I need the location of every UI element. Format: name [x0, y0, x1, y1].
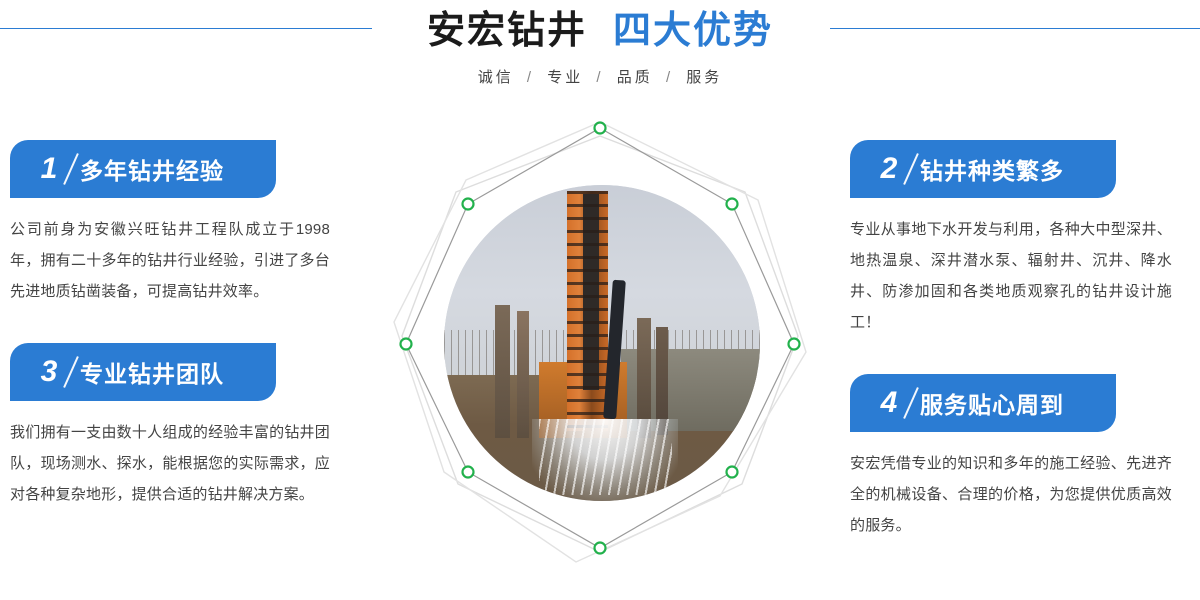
- feature-badge-4[interactable]: 4 服务贴心周到: [850, 374, 1116, 432]
- feature-body-1: 公司前身为安徽兴旺钻井工程队成立于1998年，拥有二十多年的钻井行业经验，引进了…: [10, 214, 330, 307]
- page-title: 安宏钻井四大优势: [0, 8, 1200, 54]
- feature-badge-2[interactable]: 2 钻井种类繁多: [850, 140, 1116, 198]
- feature-number-3: 3: [28, 351, 70, 393]
- polygon-node-left: [401, 339, 412, 350]
- feature-number-3-value: 3: [41, 355, 58, 388]
- feature-number-1-value: 1: [41, 152, 58, 185]
- feature-number-2-value: 2: [881, 152, 898, 185]
- feature-title-3: 专业钻井团队: [80, 355, 224, 389]
- feature-item-4: 4 服务贴心周到 安宏凭借专业的知识和多年的施工经验、先进齐全的机械设备、合理的…: [850, 374, 1180, 541]
- subtitle-item-3: 品质: [617, 69, 653, 86]
- photo-rig-mast-rungs: [567, 191, 608, 431]
- slash-icon: [63, 356, 79, 388]
- subtitle-item-2: 专业: [547, 69, 583, 86]
- feature-item-1: 1 多年钻井经验 公司前身为安徽兴旺钻井工程队成立于1998年，拥有二十多年的钻…: [10, 140, 340, 307]
- drilling-rig-photo: [444, 185, 760, 501]
- feature-number-4-value: 4: [881, 386, 898, 419]
- feature-body-4: 安宏凭借专业的知识和多年的施工经验、先进齐全的机械设备、合理的价格，为您提供优质…: [850, 448, 1172, 541]
- center-graphic: [370, 100, 830, 600]
- slash-icon: [903, 387, 919, 419]
- feature-body-3: 我们拥有一支由数十人组成的经验丰富的钻井团队，现场测水、探水，能根据您的实际需求…: [10, 417, 330, 510]
- page-title-highlight: 四大优势: [613, 10, 773, 52]
- subtitle-separator-3: /: [666, 69, 673, 86]
- feature-column-right: 2 钻井种类繁多 专业从事地下水开发与利用，各种大中型深井、地热温泉、深井潜水泵…: [850, 140, 1180, 559]
- subtitle-separator-2: /: [596, 69, 603, 86]
- feature-item-3: 3 专业钻井团队 我们拥有一支由数十人组成的经验丰富的钻井团队，现场测水、探水，…: [10, 343, 340, 510]
- photo-rig-leg-left: [495, 305, 511, 438]
- subtitle-item-1: 诚信: [478, 69, 514, 86]
- banner-header: 安宏钻井四大优势 诚信 / 专业 / 品质 / 服务: [0, 0, 1200, 110]
- photo-water-jets: [539, 419, 672, 495]
- feature-number-2: 2: [868, 148, 910, 190]
- feature-badge-3[interactable]: 3 专业钻井团队: [10, 343, 276, 401]
- promo-banner: 安宏钻井四大优势 诚信 / 专业 / 品质 / 服务 1 多年钻井经验 公司前身…: [0, 0, 1200, 600]
- feature-column-left: 1 多年钻井经验 公司前身为安徽兴旺钻井工程队成立于1998年，拥有二十多年的钻…: [10, 140, 340, 528]
- subtitle-separator-1: /: [527, 69, 534, 86]
- subtitle-item-4: 服务: [686, 69, 722, 86]
- slash-icon: [63, 153, 79, 185]
- feature-title-4: 服务贴心周到: [920, 386, 1064, 420]
- slash-icon: [903, 153, 919, 185]
- photo-rig-leg-left-2: [517, 311, 530, 437]
- feature-number-4: 4: [868, 382, 910, 424]
- feature-body-2: 专业从事地下水开发与利用，各种大中型深井、地热温泉、深井潜水泵、辐射井、沉井、降…: [850, 214, 1172, 338]
- feature-number-1: 1: [28, 148, 70, 190]
- feature-badge-1[interactable]: 1 多年钻井经验: [10, 140, 276, 198]
- feature-item-2: 2 钻井种类繁多 专业从事地下水开发与利用，各种大中型深井、地热温泉、深井潜水泵…: [850, 140, 1180, 338]
- page-title-brand: 安宏钻井: [427, 10, 587, 52]
- polygon-node-right: [789, 339, 800, 350]
- page-subtitle: 诚信 / 专业 / 品质 / 服务: [0, 66, 1200, 87]
- polygon-node-bottom: [595, 543, 606, 554]
- feature-title-2: 钻井种类繁多: [920, 152, 1064, 186]
- polygon-node-top: [595, 123, 606, 134]
- feature-title-1: 多年钻井经验: [80, 152, 224, 186]
